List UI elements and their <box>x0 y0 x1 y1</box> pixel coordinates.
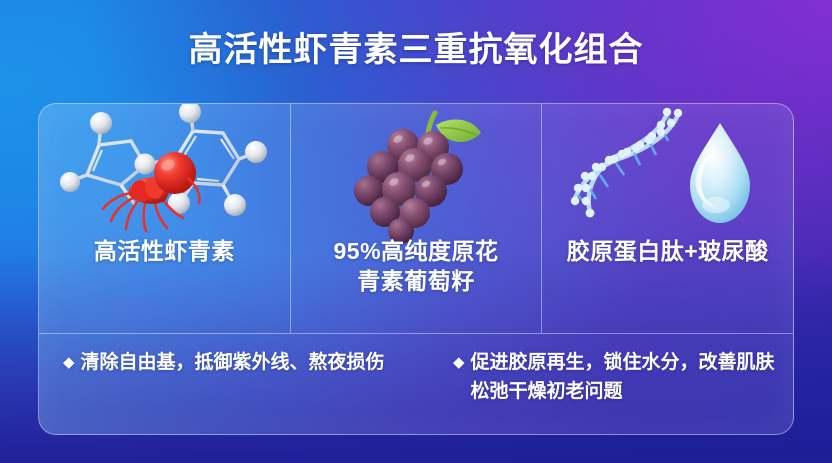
ingredient-cards-row: 高活性虾青素 <box>39 104 793 333</box>
benefit-text-antioxidant: 清除自由基，抵御紫外线、熬夜损伤 <box>81 348 451 377</box>
ingredient-card-collagen-ha[interactable]: 胶原蛋白肽+玻尿酸 <box>541 104 793 333</box>
benefits-row: ◆ 清除自由基，抵御紫外线、熬夜损伤 ◆ 促进胶原再生，锁住水分，改善肌肤松弛干… <box>39 334 793 434</box>
ingredient-card-grape-seed[interactable]: 95%高纯度原花 青素葡萄籽 <box>290 104 542 333</box>
dna-helix-water-drop-icon <box>570 109 766 235</box>
dna-droplet-icon-wrap <box>542 104 793 236</box>
dna-helix <box>570 108 681 218</box>
benefit-text-collagen: 促进胶原再生，锁住水分，改善肌肤松弛干燥初老问题 <box>471 348 793 406</box>
ingredient-card-astaxanthin[interactable]: 高活性虾青素 <box>39 104 290 333</box>
diamond-bullet-icon: ◆ <box>63 348 75 377</box>
ingredients-panel: 高活性虾青素 <box>38 103 794 435</box>
grape-berries <box>354 129 463 244</box>
benefit-item-collagen: ◆ 促进胶原再生，锁住水分，改善肌肤松弛干燥初老问题 <box>451 348 793 434</box>
benefit-item-antioxidant: ◆ 清除自由基，抵御紫外线、熬夜损伤 <box>39 348 451 434</box>
promo-banner: 高活性虾青素三重抗氧化组合 <box>0 0 832 463</box>
astaxanthin-molecule-shrimp-icon <box>69 109 259 235</box>
grape-label-line-1: 95%高纯度原花 <box>333 238 498 264</box>
diamond-bullet-icon: ◆ <box>453 348 465 377</box>
astaxanthin-icon-wrap <box>39 104 290 236</box>
grape-cluster-icon <box>341 107 491 237</box>
ingredient-label-collagen-ha: 胶原蛋白肽+玻尿酸 <box>557 236 779 266</box>
grape-label-line-2: 青素葡萄籽 <box>357 268 475 294</box>
ingredient-label-astaxanthin: 高活性虾青素 <box>84 236 245 266</box>
water-droplet <box>690 123 750 223</box>
ingredient-label-grape-seed: 95%高纯度原花 青素葡萄籽 <box>323 236 508 296</box>
grape-icon-wrap <box>291 104 542 236</box>
page-title: 高活性虾青素三重抗氧化组合 <box>0 28 832 72</box>
dna-beads <box>570 108 681 218</box>
